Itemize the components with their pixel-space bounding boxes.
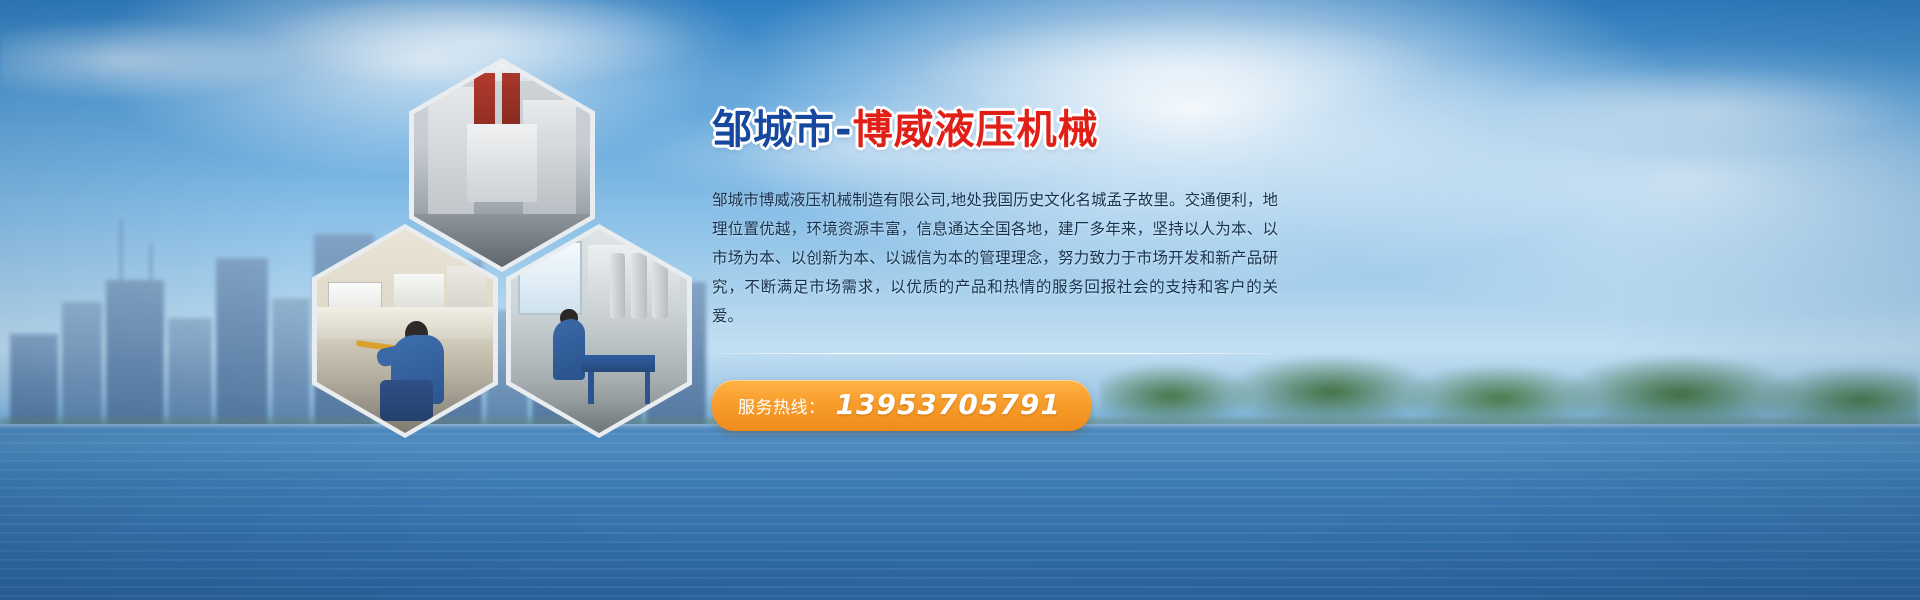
company-description: 邹城市博威液压机械制造有限公司,地处我国历史文化名城孟子故里。交通便利，地理位置… [712,186,1278,331]
test-bench-photo [506,224,692,438]
title-brand-part: 博威液压机械 [853,107,1099,153]
hotline-badge[interactable]: 服务热线： 13953705791 [712,380,1091,431]
hotline-label: 服务热线： [738,393,826,418]
title-city-part: 邹城市- [712,107,853,153]
hero-banner: 邹城市-博威液压机械 邹城市博威液压机械制造有限公司,地处我国历史文化名城孟子故… [0,0,1920,600]
laboratory-operator-photo [312,224,498,438]
hotline-number: 13953705791 [836,391,1061,419]
machining-center-photo [409,58,595,272]
company-title: 邹城市-博威液压机械 [712,108,1282,152]
divider [712,353,1272,354]
hexagon-photo-cluster [312,58,692,438]
banner-content: 邹城市-博威液压机械 邹城市博威液压机械制造有限公司,地处我国历史文化名城孟子故… [712,108,1282,431]
